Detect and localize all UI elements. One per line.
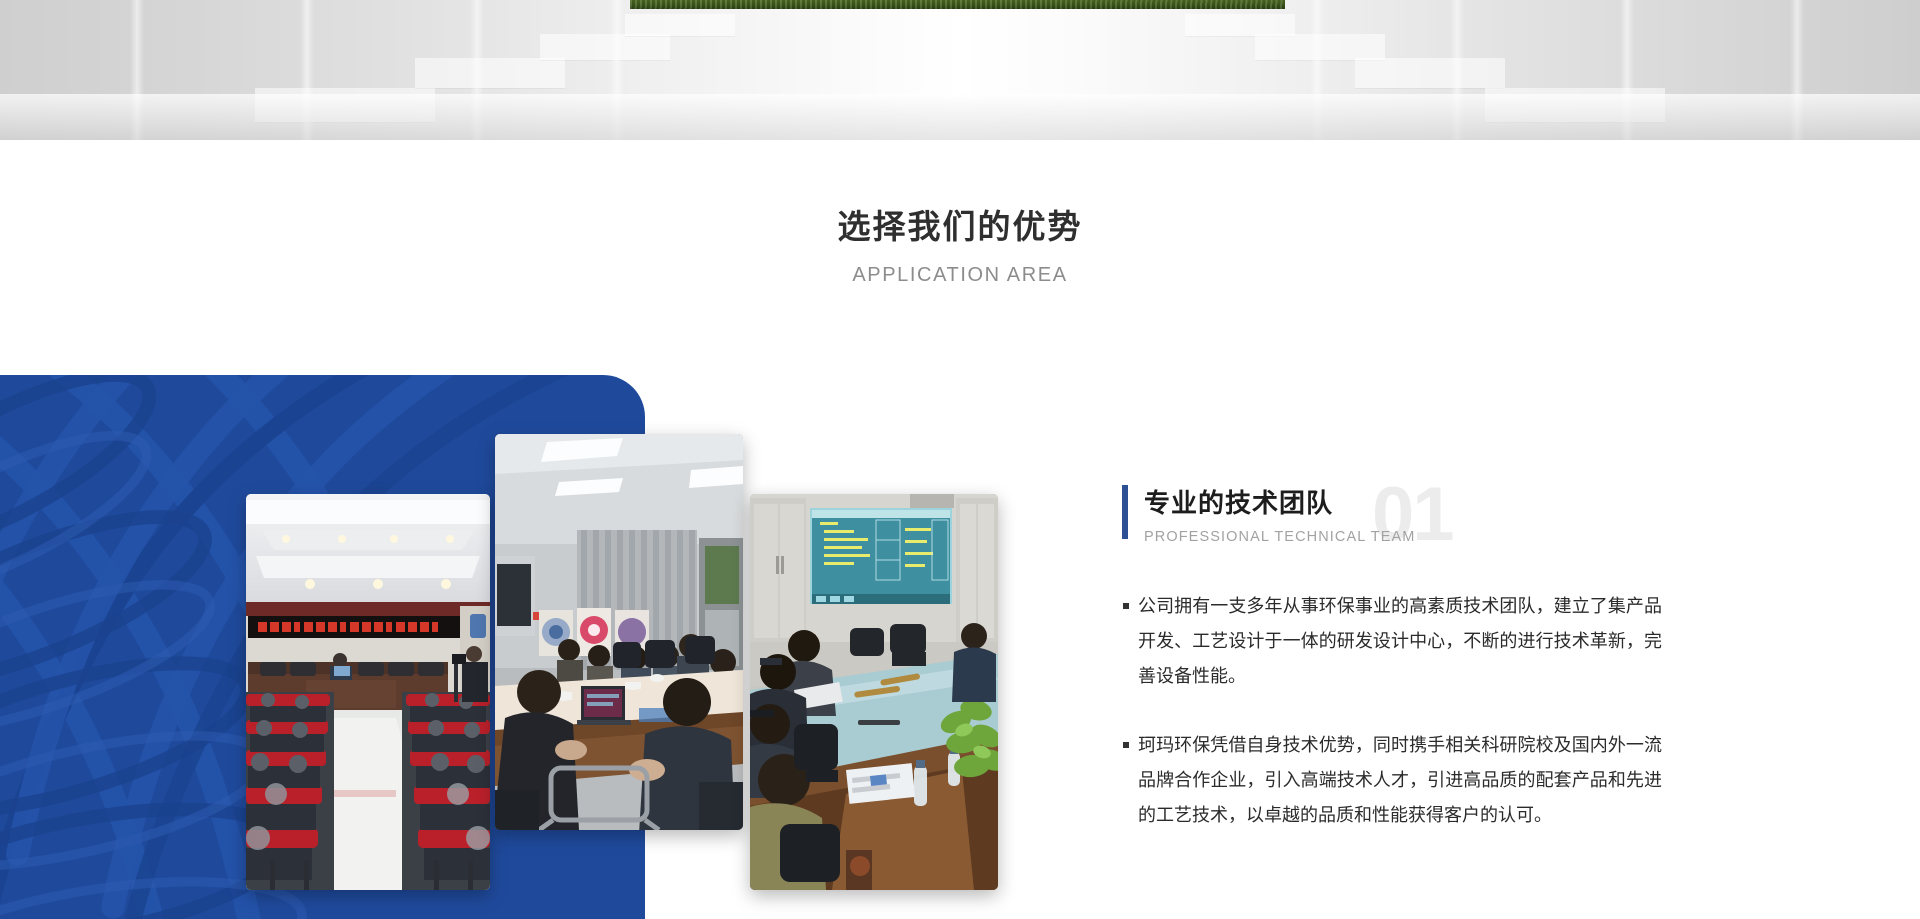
page-title: 选择我们的优势 bbox=[0, 200, 1920, 248]
feature-title-en: PROFESSIONAL TECHNICAL TEAM bbox=[1144, 529, 1662, 545]
top-banner-image bbox=[0, 0, 1920, 140]
bullet-dot-icon bbox=[1123, 742, 1129, 748]
page-subtitle: APPLICATION AREA bbox=[0, 264, 1920, 287]
bullet-dot-icon bbox=[1123, 603, 1129, 609]
photo-meeting-room[interactable] bbox=[495, 434, 743, 830]
meeting-room-image bbox=[495, 434, 743, 830]
feature-heading: 01 专业的技术团队 PROFESSIONAL TECHNICAL TEAM bbox=[1122, 483, 1662, 545]
accent-bar bbox=[1122, 485, 1128, 539]
banner-green-strip bbox=[630, 0, 1285, 9]
lecture-hall-image bbox=[246, 494, 490, 890]
feature-paragraph-2: 珂玛环保凭借自身技术优势，同时携手相关科研院校及国内外一流品牌合作企业，引入高端… bbox=[1122, 728, 1662, 833]
paragraph-text: 公司拥有一支多年从事环保事业的高素质技术团队，建立了集产品开发、工艺设计于一体的… bbox=[1138, 596, 1662, 687]
banner-floor bbox=[0, 94, 1920, 140]
feature-body: 公司拥有一支多年从事环保事业的高素质技术团队，建立了集产品开发、工艺设计于一体的… bbox=[1122, 589, 1662, 833]
paragraph-text: 珂玛环保凭借自身技术优势，同时携手相关科研院校及国内外一流品牌合作企业，引入高端… bbox=[1138, 735, 1662, 826]
section-heading: 选择我们的优势 APPLICATION AREA bbox=[0, 200, 1920, 287]
photo-presentation[interactable] bbox=[750, 494, 998, 890]
feature-title-cn: 专业的技术团队 bbox=[1144, 483, 1662, 520]
feature-paragraph-1: 公司拥有一支多年从事环保事业的高素质技术团队，建立了集产品开发、工艺设计于一体的… bbox=[1122, 589, 1662, 694]
feature-block: 01 专业的技术团队 PROFESSIONAL TECHNICAL TEAM 公… bbox=[1122, 483, 1662, 833]
photo-lecture-hall[interactable] bbox=[246, 494, 490, 890]
page-root: 选择我们的优势 APPLICATION AREA bbox=[0, 0, 1920, 919]
presentation-image bbox=[750, 494, 998, 890]
